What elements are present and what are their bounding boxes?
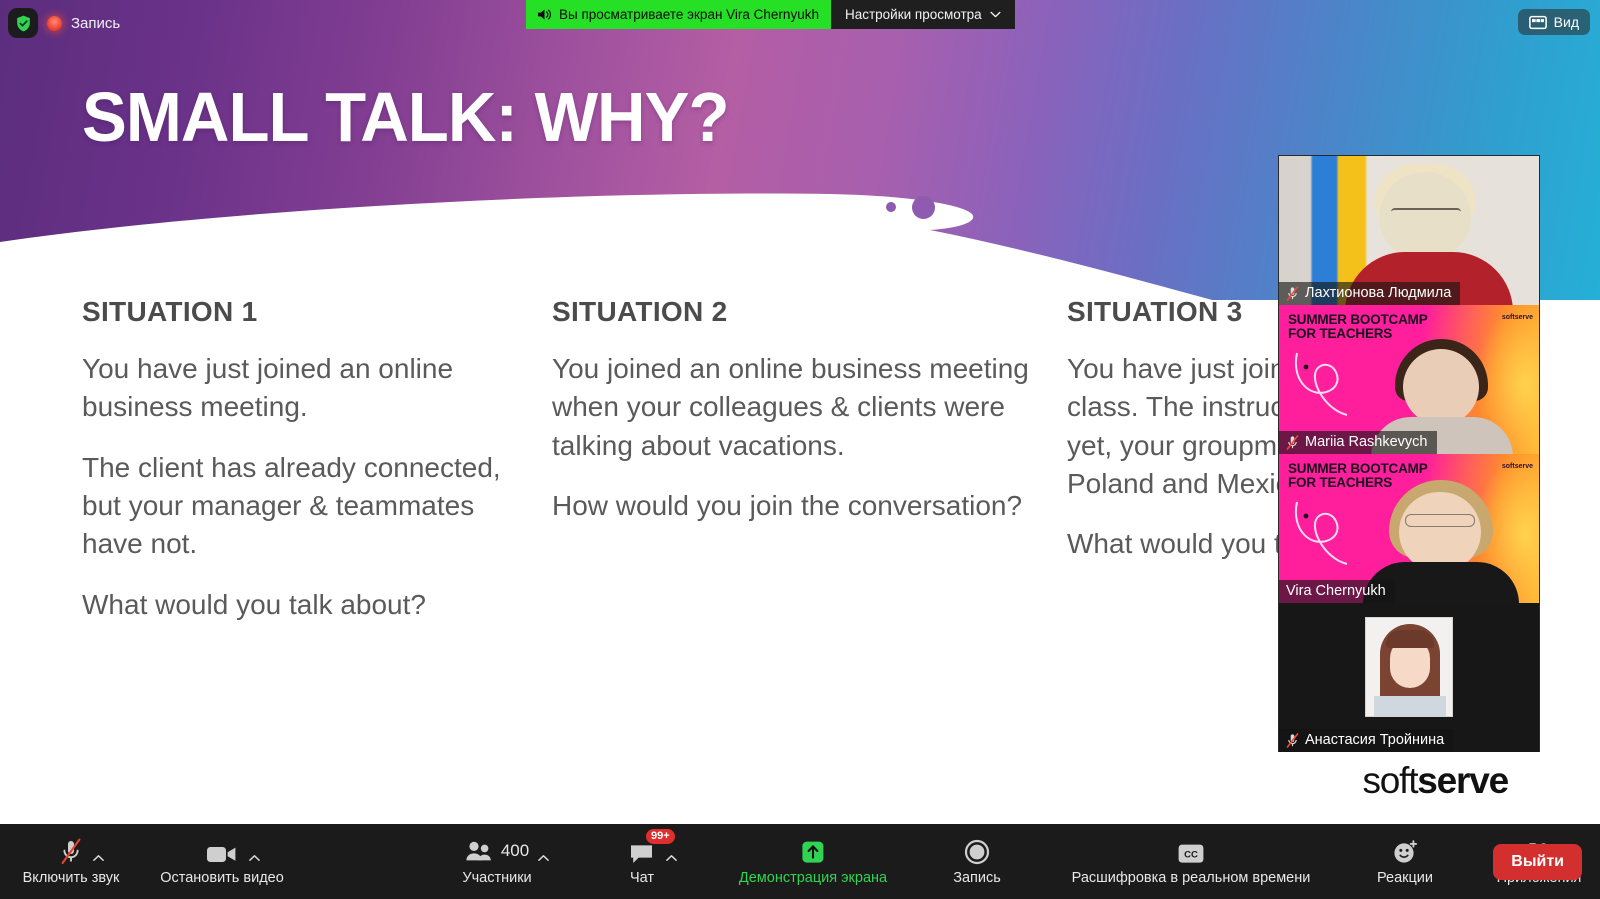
- participant-name-tag: Vira Chernyukh: [1279, 580, 1395, 603]
- zoom-meeting-window: SMALL TALK: WHY? SITUATION 1 You have ju…: [0, 0, 1600, 899]
- person-head: [1403, 349, 1479, 425]
- toolbar-label-transcript: Расшифровка в реальном времени: [1072, 870, 1311, 886]
- security-button[interactable]: [8, 8, 38, 38]
- participant-name-tag: Анастасия Тройнина: [1279, 729, 1453, 752]
- situation-2-paragraph-2: How would you join the conversation?: [552, 487, 1030, 525]
- toolbar-label-share-screen: Демонстрация экрана: [739, 870, 887, 886]
- avatar-bangs: [1386, 630, 1434, 648]
- toolbar-button-reactions[interactable]: Реакции: [1361, 824, 1449, 899]
- poster-headline: SUMMER BOOTCAMPFOR TEACHERS: [1288, 313, 1428, 341]
- layout-grid-icon: [1529, 15, 1547, 30]
- chevron-up-icon[interactable]: [538, 854, 549, 862]
- situation-2-paragraph-1: You joined an online business meeting wh…: [552, 350, 1030, 465]
- share-status-chip: Вы просматриваете экран Vira Chernyukh: [526, 0, 831, 29]
- participant-name: Лахтионова Людмила: [1305, 285, 1451, 301]
- meeting-toolbar: Включить звук Остановить видео: [0, 824, 1600, 899]
- toolbar-button-record[interactable]: Запись: [935, 824, 1019, 899]
- toolbar-label-reactions: Реакции: [1377, 870, 1433, 886]
- situation-column-1: SITUATION 1 You have just joined an onli…: [82, 296, 552, 716]
- slide-title: SMALL TALK: WHY?: [82, 82, 729, 152]
- toolbar-button-share-screen[interactable]: Демонстрация экрана: [723, 824, 903, 899]
- chevron-up-icon[interactable]: [249, 854, 260, 862]
- participant-name-tag: Mariia Rashkevych: [1279, 431, 1437, 454]
- mic-off-icon: [1286, 733, 1299, 748]
- participant-name: Vira Chernyukh: [1286, 583, 1386, 599]
- cc-icon: CC: [1176, 838, 1206, 865]
- smiley-plus-icon: [1392, 838, 1419, 865]
- share-screen-icon: [799, 838, 827, 865]
- chevron-down-icon: [990, 11, 1001, 18]
- mic-off-icon: [1286, 435, 1299, 450]
- softserve-logo: softserve: [1362, 760, 1508, 802]
- person-glasses: [1391, 208, 1461, 219]
- video-tile-lakhtionova[interactable]: Лахтионова Людмила: [1279, 156, 1539, 305]
- avatar: [1365, 617, 1453, 717]
- toolbar-label-participants: Участники: [462, 870, 531, 886]
- video-tile-troynina[interactable]: Анастасия Тройнина: [1279, 603, 1539, 752]
- toolbar-button-participants[interactable]: 400 Участники: [437, 824, 557, 899]
- speaker-icon: [537, 8, 552, 21]
- avatar-shirt: [1374, 696, 1446, 717]
- recording-label: Запись: [71, 15, 120, 32]
- situation-1-paragraph-2: The client has already connected, but yo…: [82, 449, 530, 564]
- logo-soft-text: soft: [1362, 760, 1417, 801]
- chat-bubble-icon: 99+: [629, 838, 655, 865]
- toolbar-label-record: Запись: [953, 870, 1001, 886]
- record-circle-icon: [964, 838, 990, 865]
- chevron-up-icon[interactable]: [666, 854, 677, 862]
- situation-1-heading: SITUATION 1: [82, 296, 530, 328]
- toolbar-button-video[interactable]: Остановить видео: [152, 824, 292, 899]
- participant-name: Анастасия Тройнина: [1305, 732, 1444, 748]
- logo-serve-text: serve: [1417, 760, 1508, 801]
- chevron-up-icon[interactable]: [93, 854, 104, 862]
- video-tile-rashkevych[interactable]: SUMMER BOOTCAMPFOR TEACHERS softserve Ma…: [1279, 305, 1539, 454]
- poster-brand: softserve: [1502, 314, 1533, 321]
- share-status-text: Вы просматриваете экран Vira Chernyukh: [559, 7, 819, 22]
- participant-name: Mariia Rashkevych: [1305, 434, 1428, 450]
- view-button-label: Вид: [1554, 14, 1579, 30]
- leave-meeting-button[interactable]: Выйти: [1493, 844, 1582, 880]
- chat-unread-badge: 99+: [646, 829, 675, 845]
- poster-headline: SUMMER BOOTCAMPFOR TEACHERS: [1288, 462, 1428, 490]
- toolbar-button-transcript[interactable]: CC Расшифровка в реальном времени: [1063, 824, 1319, 899]
- screen-share-banner: Вы просматриваете экран Vira Chernyukh Н…: [526, 0, 1015, 29]
- participants-count: 400: [501, 841, 529, 861]
- camera-icon: [206, 838, 238, 865]
- situation-1-paragraph-3: What would you talk about?: [82, 586, 530, 624]
- video-tile-chernyukh[interactable]: SUMMER BOOTCAMPFOR TEACHERS softserve Vi…: [1279, 454, 1539, 603]
- share-settings-label: Настройки просмотра: [845, 7, 982, 22]
- situation-1-paragraph-1: You have just joined an online business …: [82, 350, 530, 427]
- participant-name-tag: Лахтионова Людмила: [1279, 282, 1460, 305]
- shield-check-icon: [14, 14, 33, 33]
- recording-indicator-icon: [47, 16, 62, 31]
- toolbar-label-video: Остановить видео: [160, 870, 284, 886]
- mic-off-icon: [1286, 286, 1299, 301]
- situation-column-2: SITUATION 2 You joined an online busines…: [552, 296, 1052, 716]
- people-icon: 400: [465, 838, 529, 865]
- decorative-dot-large-icon: [912, 196, 935, 219]
- poster-squiggle-icon: [1289, 347, 1409, 427]
- toolbar-label-audio: Включить звук: [23, 870, 120, 886]
- poster-brand: softserve: [1502, 463, 1533, 470]
- person-head: [1399, 492, 1481, 572]
- toolbar-button-audio[interactable]: Включить звук: [12, 824, 130, 899]
- situation-2-heading: SITUATION 2: [552, 296, 1030, 328]
- participant-filmstrip[interactable]: Лахтионова Людмила SUMMER BOOTCAMPFOR TE…: [1278, 155, 1540, 752]
- toolbar-button-chat[interactable]: 99+ Чат: [605, 824, 679, 899]
- view-button[interactable]: Вид: [1518, 9, 1590, 35]
- top-left-status-group: Запись: [8, 8, 120, 38]
- person-glasses: [1405, 514, 1475, 527]
- toolbar-label-chat: Чат: [630, 870, 654, 886]
- share-settings-button[interactable]: Настройки просмотра: [831, 0, 1015, 29]
- decorative-dot-small-icon: [886, 202, 896, 212]
- svg-text:CC: CC: [1184, 849, 1198, 860]
- mic-off-icon: [60, 838, 82, 865]
